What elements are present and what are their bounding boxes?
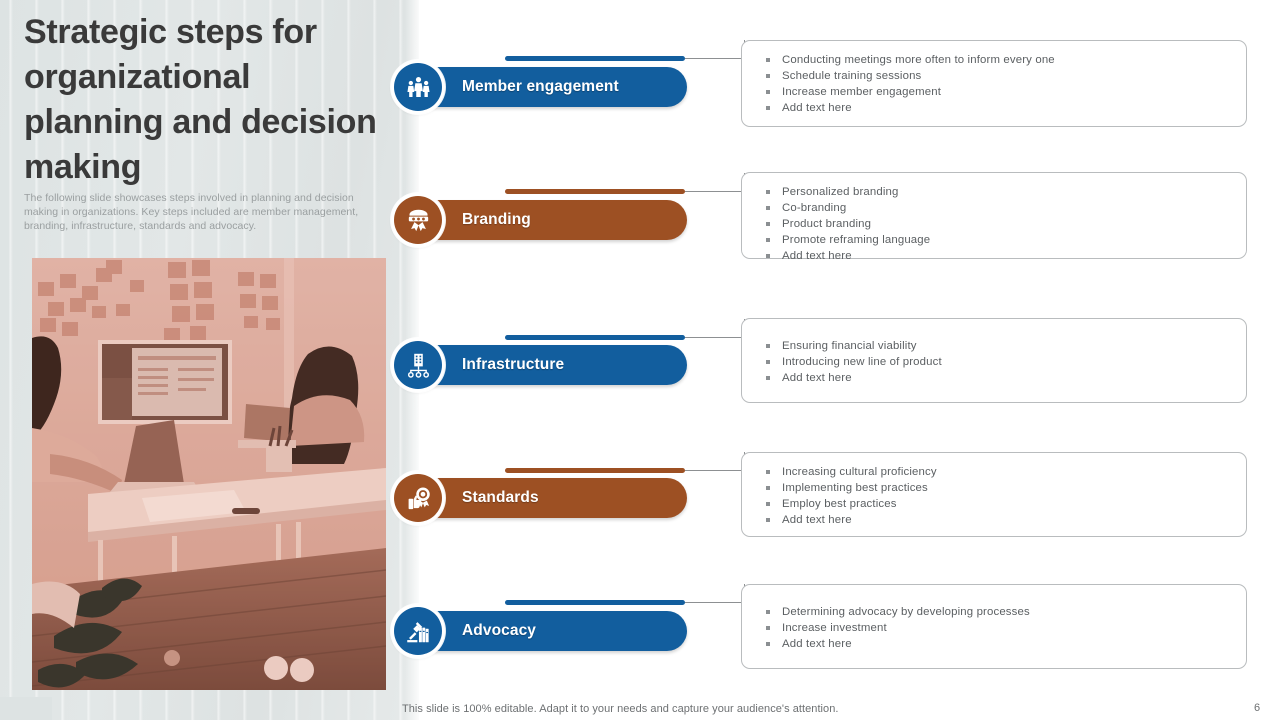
thumbs-up-medal-icon: [405, 485, 432, 512]
list-item: Conducting meetings more often to inform…: [764, 52, 1232, 68]
list-item: Schedule training sessions: [764, 68, 1232, 84]
step-label: Standards: [462, 489, 539, 507]
list-item: Promote reframing language: [764, 232, 1232, 248]
list-item: Employ best practices: [764, 496, 1232, 512]
bullet-list: Increasing cultural proficiency Implemen…: [764, 464, 1232, 528]
bullet-list: Conducting meetings more often to inform…: [764, 52, 1232, 116]
list-item: Determining advocacy by developing proce…: [764, 604, 1232, 620]
steps-area: Member engagement Conducting meetings mo…: [419, 0, 1280, 720]
step-icon-badge: [394, 341, 442, 389]
list-item: Ensuring financial viability: [764, 338, 1232, 354]
step-detail-card: Determining advocacy by developing proce…: [741, 584, 1247, 669]
connector-bar: [505, 189, 685, 194]
connector-bar: [505, 56, 685, 61]
list-item: Add text here: [764, 370, 1232, 386]
list-item: Increase investment: [764, 620, 1232, 636]
list-item: Personalized branding: [764, 184, 1232, 200]
list-item: Add text here: [764, 636, 1232, 652]
step-detail-card: Personalized branding Co-branding Produc…: [741, 172, 1247, 259]
step-icon-badge: [394, 63, 442, 111]
step-label: Infrastructure: [462, 356, 564, 374]
office-team-meeting-photo: [32, 258, 386, 690]
list-item: Add text here: [764, 512, 1232, 528]
step-detail-card: Increasing cultural proficiency Implemen…: [741, 452, 1247, 537]
page-title: Strategic steps for organizational plann…: [24, 10, 394, 190]
list-item: Co-branding: [764, 200, 1232, 216]
slide-canvas: Strategic steps for organizational plann…: [0, 0, 1280, 720]
list-item: Increase member engagement: [764, 84, 1232, 100]
step-label: Branding: [462, 211, 531, 229]
connector-line: [685, 337, 745, 338]
step-icon-badge: [394, 196, 442, 244]
bullet-list: Personalized branding Co-branding Produc…: [764, 184, 1232, 264]
people-group-icon: [405, 74, 432, 101]
list-item: Product branding: [764, 216, 1232, 232]
connector-line: [685, 470, 745, 471]
connector-line: [685, 602, 745, 603]
list-item: Add text here: [764, 248, 1232, 264]
step-icon-badge: [394, 474, 442, 522]
list-item: Add text here: [764, 100, 1232, 116]
step-label: Advocacy: [462, 622, 536, 640]
gavel-lawbooks-icon: [405, 618, 432, 645]
list-item: Introducing new line of product: [764, 354, 1232, 370]
bullet-list: Ensuring financial viability Introducing…: [764, 330, 1232, 386]
page-subtitle: The following slide showcases steps invo…: [24, 192, 368, 234]
bullet-list: Determining advocacy by developing proce…: [764, 596, 1232, 652]
footer-accent-strip: [0, 697, 52, 720]
award-ribbon-icon: [405, 207, 432, 234]
building-hierarchy-icon: [405, 352, 432, 379]
page-number: 6: [1254, 702, 1260, 714]
step-detail-card: Ensuring financial viability Introducing…: [741, 318, 1247, 403]
connector-bar: [505, 335, 685, 340]
left-panel: Strategic steps for organizational plann…: [0, 0, 419, 720]
list-item: Implementing best practices: [764, 480, 1232, 496]
connector-line: [685, 58, 745, 59]
footer-note: This slide is 100% editable. Adapt it to…: [402, 703, 839, 715]
connector-bar: [505, 600, 685, 605]
step-detail-card: Conducting meetings more often to inform…: [741, 40, 1247, 127]
step-label: Member engagement: [462, 78, 619, 96]
list-item: Increasing cultural proficiency: [764, 464, 1232, 480]
connector-line: [685, 191, 745, 192]
step-icon-badge: [394, 607, 442, 655]
connector-bar: [505, 468, 685, 473]
